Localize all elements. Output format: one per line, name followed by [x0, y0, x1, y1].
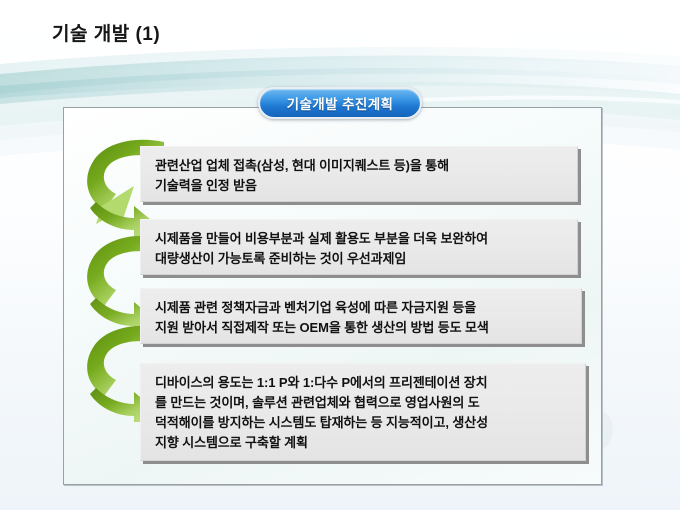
content-box-4-text: 디바이스의 용도는 1:1 P와 1:다수 P에서의 프리젠테이션 장치 를 만…	[155, 373, 573, 454]
content-box-2: 시제품을 만들어 비용부분과 실제 활용도 부분을 더욱 보완하여 대량생산이 …	[140, 219, 578, 275]
page-title: 기술 개발 (1)	[52, 19, 160, 46]
section-banner: 기술개발 추진계획	[258, 87, 422, 119]
content-box-1: 관련산업 업체 접촉(삼성, 현대 이미지퀘스트 등)을 통해 기술력을 인정 …	[140, 146, 578, 202]
content-box-3-text: 시제품 관련 정책자금과 벤처기업 육성에 따른 자금지원 등을 지원 받아서 …	[155, 298, 569, 338]
content-box-2-text: 시제품을 만들어 비용부분과 실제 활용도 부분을 더욱 보완하여 대량생산이 …	[155, 229, 565, 269]
content-box-3: 시제품 관련 정책자금과 벤처기업 육성에 따른 자금지원 등을 지원 받아서 …	[140, 288, 582, 344]
content-box-4: 디바이스의 용도는 1:1 P와 1:다수 P에서의 프리젠테이션 장치 를 만…	[140, 363, 586, 461]
slide-canvas: 기술 개발 (1) 기술개발 추진계획	[0, 0, 680, 510]
content-box-1-text: 관련산업 업체 접촉(삼성, 현대 이미지퀘스트 등)을 통해 기술력을 인정 …	[155, 156, 565, 196]
section-banner-label: 기술개발 추진계획	[287, 93, 394, 113]
